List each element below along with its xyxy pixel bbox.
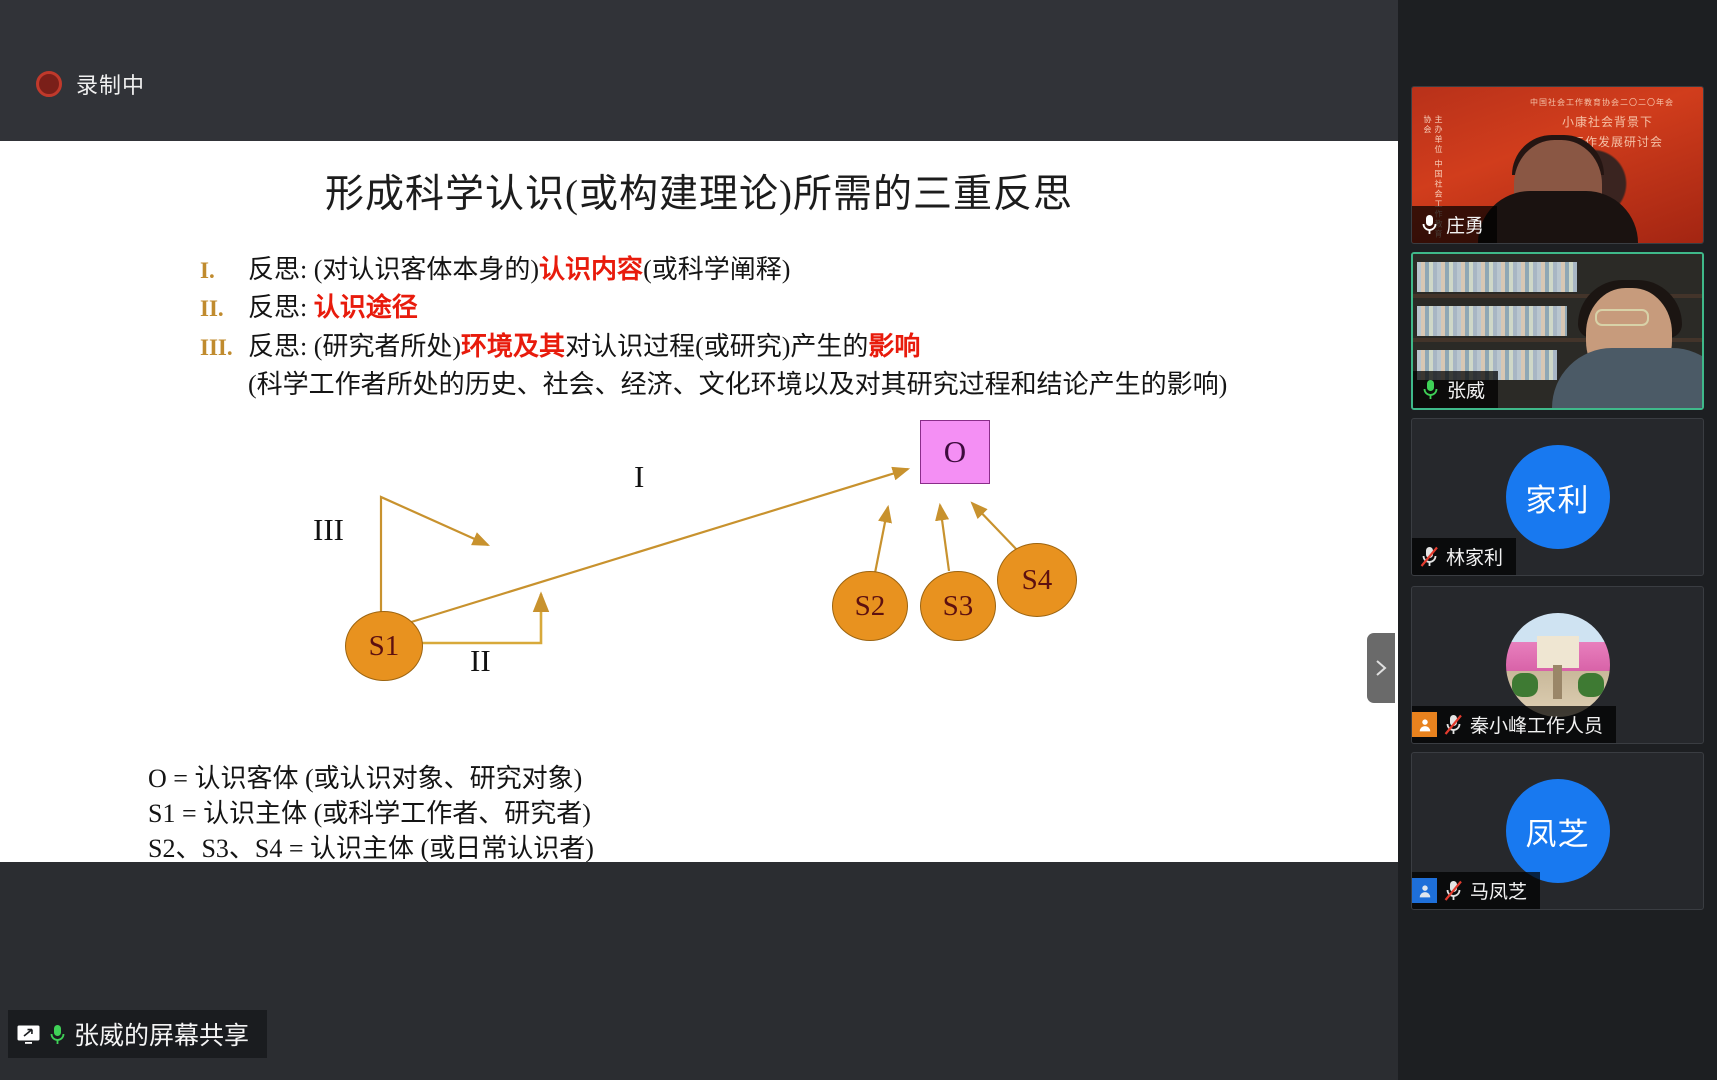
diagram-node-S2-label: S2 xyxy=(855,590,886,623)
mic-muted-icon xyxy=(1444,713,1463,736)
bullet-item-1: I. 反思: (对认识客体本身的)认识内容(或科学阐释) xyxy=(200,253,1350,287)
person-icon xyxy=(1417,883,1433,899)
bullet-number-2: II. xyxy=(200,291,248,324)
screen-share-status[interactable]: 张威的屏幕共享 xyxy=(8,1010,267,1058)
avatar-photo-bush-right xyxy=(1578,673,1604,697)
diagram-node-S3-label: S3 xyxy=(943,590,974,623)
bookshelf-row-2 xyxy=(1417,306,1567,336)
bullet-text-1: 反思: (对认识客体本身的)认识内容(或科学阐释) xyxy=(248,253,1350,287)
participant-tile-mafengzhi[interactable]: 凤芝 马凤芝 xyxy=(1411,752,1704,910)
participant-name-strip: 林家利 xyxy=(1412,538,1516,575)
bullet-pre-1: 反思: (对认识客体本身的) xyxy=(248,255,539,284)
avatar-initials-circle: 凤芝 xyxy=(1506,779,1610,883)
avatar-photo-building xyxy=(1537,636,1579,668)
bullet-number-1: I. xyxy=(200,253,248,286)
bullet-item-3: III. 反思: (研究者所处)环境及其对认识过程(或研究)产生的影响 xyxy=(200,330,1350,364)
avatar-body-shape xyxy=(1552,348,1704,408)
mic-muted-icon xyxy=(1420,545,1439,568)
mic-on-icon xyxy=(1420,213,1439,236)
chevron-right-icon xyxy=(1373,658,1389,678)
avatar-initials-circle: 家利 xyxy=(1506,445,1610,549)
shared-screen-slide: 形成科学认识(或构建理论)所需的三重反思 I. 反思: (对认识客体本身的)认识… xyxy=(0,141,1398,862)
recording-label: 录制中 xyxy=(76,68,145,100)
diagram-node-object-label: O xyxy=(944,434,966,470)
participant-name: 秦小峰工作人员 xyxy=(1470,711,1603,738)
avatar-body-shape xyxy=(1478,191,1638,243)
bottom-status-bar: 张威的屏幕共享 xyxy=(0,982,1398,1080)
person-icon xyxy=(1417,717,1433,733)
mic-on-icon xyxy=(1421,378,1440,401)
screen-share-icon xyxy=(16,1024,41,1045)
bullet-highlight-3a: 环境及其 xyxy=(461,332,565,361)
bullet-item-2: II. 反思: 认识途径 xyxy=(200,291,1350,325)
avatar-photo xyxy=(1506,613,1610,717)
diagram-arrows xyxy=(0,411,1398,741)
panel-collapse-button[interactable] xyxy=(1367,633,1395,703)
host-badge-icon xyxy=(1412,712,1437,737)
recording-bar: 录制中 xyxy=(0,0,1398,141)
bullet-text-2: 反思: 认识途径 xyxy=(248,291,1350,325)
bullet-text-3: 反思: (研究者所处)环境及其对认识过程(或研究)产生的影响 xyxy=(248,330,1350,364)
participant-badge-icon xyxy=(1412,878,1437,903)
slide-diagram: O S1 S2 S3 S4 I II III xyxy=(0,411,1398,741)
legend-line-1: O = 认识客体 (或认识对象、研究对象) xyxy=(148,761,594,796)
avatar-initials: 凤芝 xyxy=(1526,809,1590,854)
mic-muted-icon xyxy=(1444,879,1463,902)
participant-tile-linjiali[interactable]: 家利 林家利 xyxy=(1411,418,1704,576)
participant-name: 林家利 xyxy=(1446,543,1503,570)
avatar-glasses-shape xyxy=(1595,309,1649,326)
participant-name-strip: 秦小峰工作人员 xyxy=(1412,706,1616,743)
screen-share-label: 张威的屏幕共享 xyxy=(74,1016,249,1052)
participant-name-strip: 庄勇 xyxy=(1412,206,1497,243)
participant-tile-zhuangyong[interactable]: 主办单位 中国社会工作教育协会 中国社会工作教育协会二〇二〇年会 小康社会背景下… xyxy=(1411,86,1704,244)
diagram-relation-label-II: II xyxy=(470,643,491,679)
slide-legend: O = 认识客体 (或认识对象、研究对象) S1 = 认识主体 (或科学工作者、… xyxy=(148,761,594,862)
participant-name: 庄勇 xyxy=(1446,211,1484,238)
avatar-photo-trunk xyxy=(1553,665,1562,699)
participant-filmstrip[interactable]: 主办单位 中国社会工作教育协会 中国社会工作教育协会二〇二〇年会 小康社会背景下… xyxy=(1398,0,1717,1080)
banner-line-2: 小康社会背景下 xyxy=(1562,113,1653,130)
bullet-highlight-1: 认识内容 xyxy=(539,255,643,284)
participant-name: 张威 xyxy=(1447,376,1485,403)
recording-indicator: 录制中 xyxy=(36,68,145,100)
diagram-node-object-O: O xyxy=(920,420,990,484)
bullet-number-3: III. xyxy=(200,330,248,363)
bullet-highlight-3b: 影响 xyxy=(868,332,920,361)
bullet-pre-3: 反思: (研究者所处) xyxy=(248,332,461,361)
diagram-node-S2: S2 xyxy=(832,571,908,641)
slide-bullet-list: I. 反思: (对认识客体本身的)认识内容(或科学阐释) II. 反思: 认识途… xyxy=(200,253,1350,402)
bullet-post-3: 对认识过程(或研究)产生的 xyxy=(565,332,868,361)
diagram-node-S1-label: S1 xyxy=(369,630,400,663)
record-dot-icon xyxy=(36,71,62,97)
participant-name-strip: 张威 xyxy=(1413,371,1498,408)
bullet-post-1: (或科学阐释) xyxy=(643,255,790,284)
participant-name-strip: 马凤芝 xyxy=(1412,872,1540,909)
slide-title: 形成科学认识(或构建理论)所需的三重反思 xyxy=(0,163,1398,219)
diagram-node-S4-label: S4 xyxy=(1022,564,1053,597)
avatar-photo-bush-left xyxy=(1512,673,1538,697)
diagram-relation-label-I: I xyxy=(634,459,644,495)
diagram-relation-label-III: III xyxy=(313,512,344,548)
bullet-highlight-2: 认识途径 xyxy=(314,293,418,322)
legend-line-2: S1 = 认识主体 (或科学工作者、研究者) xyxy=(148,796,594,831)
zoom-meeting-window: 录制中 形成科学认识(或构建理论)所需的三重反思 I. 反思: (对认识客体本身… xyxy=(0,0,1717,1080)
participant-name: 马凤芝 xyxy=(1470,877,1527,904)
mic-on-icon xyxy=(48,1023,67,1046)
bullet-pre-2: 反思: xyxy=(248,293,314,322)
diagram-node-S1: S1 xyxy=(345,611,423,681)
banner-line-1: 中国社会工作教育协会二〇二〇年会 xyxy=(1530,97,1674,108)
participant-tile-qinxiaofeng[interactable]: 秦小峰工作人员 xyxy=(1411,586,1704,744)
bookshelf-row-1 xyxy=(1417,262,1577,292)
avatar-initials: 家利 xyxy=(1526,475,1590,520)
bullet-sub-note: (科学工作者所处的历史、社会、经济、文化环境以及对其研究过程和结论产生的影响) xyxy=(248,368,1350,402)
diagram-node-S4: S4 xyxy=(997,543,1077,617)
legend-line-3: S2、S3、S4 = 认识主体 (或日常认识者) xyxy=(148,831,594,862)
diagram-node-S3: S3 xyxy=(920,571,996,641)
participant-tile-zhangwei[interactable]: 张威 xyxy=(1411,252,1704,410)
